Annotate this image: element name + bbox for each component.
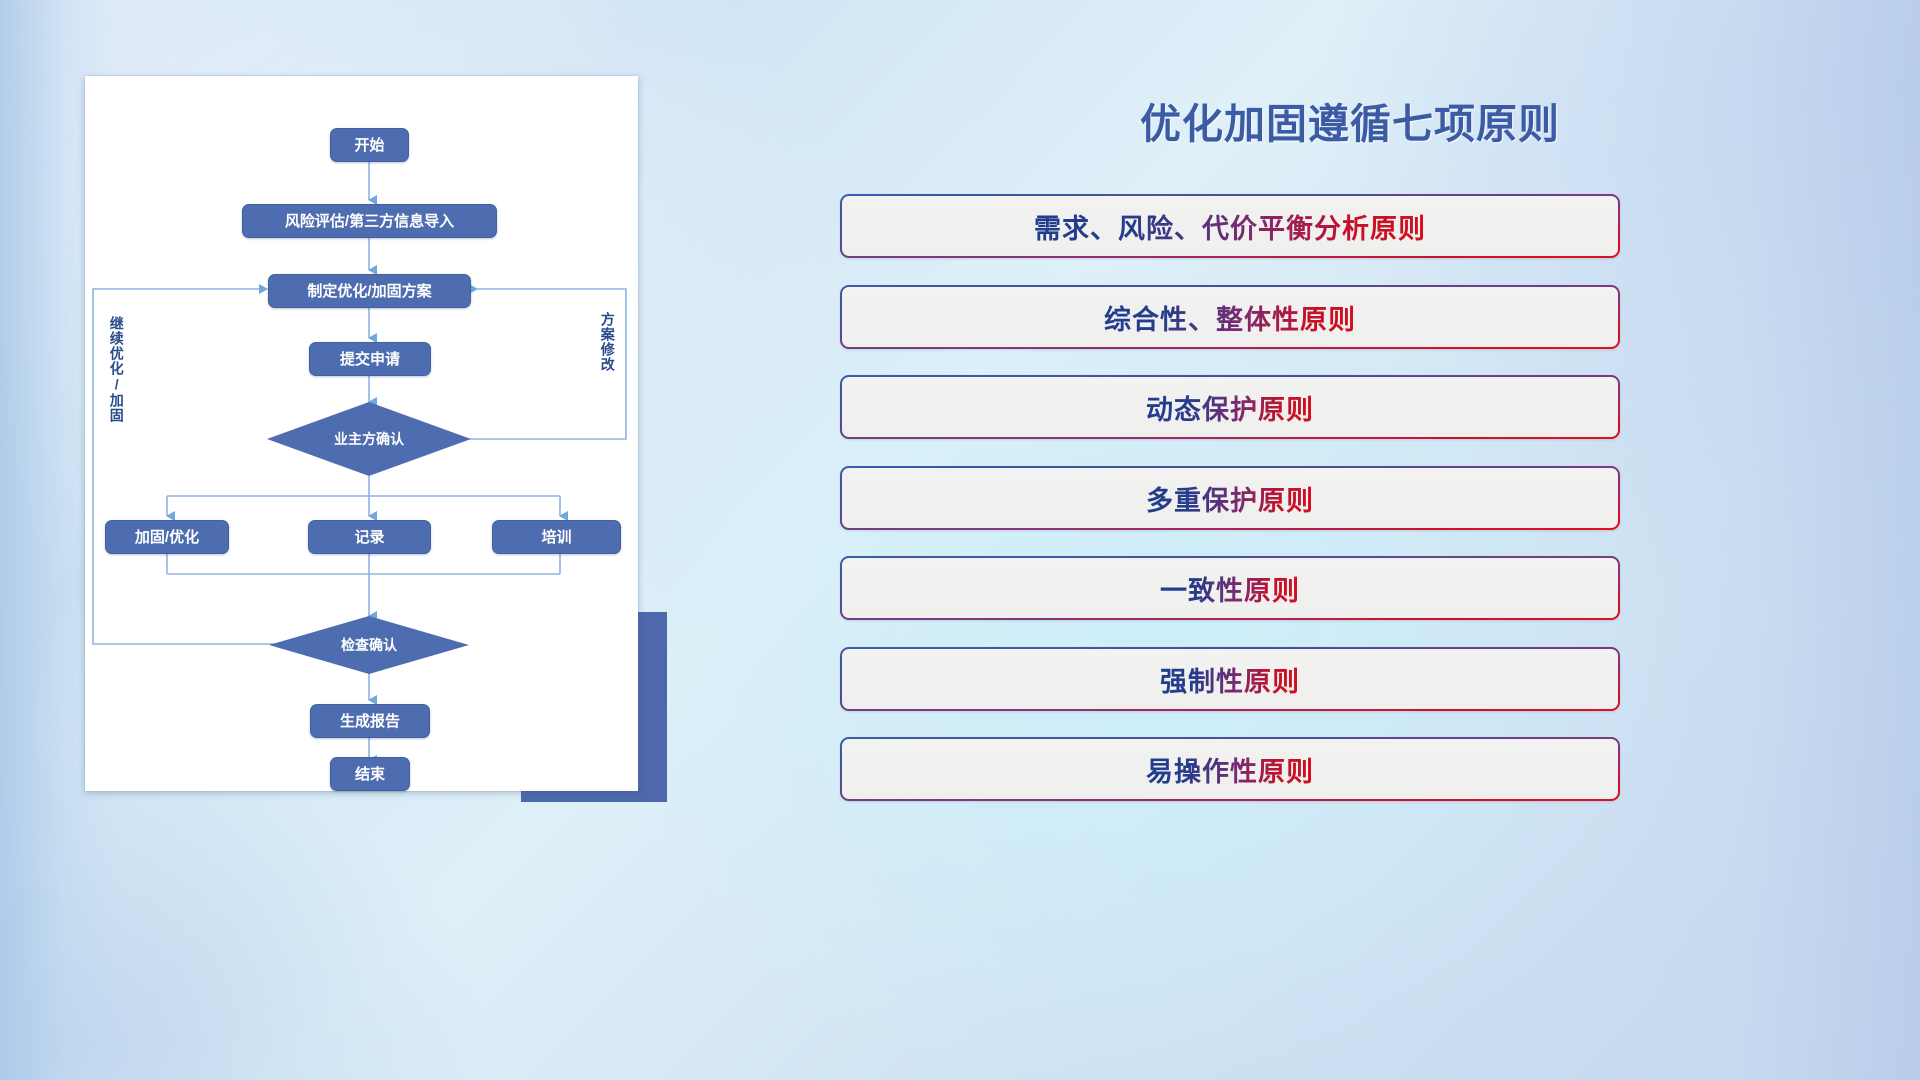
principle-item-7[interactable]: 易操作性原则 xyxy=(840,737,1620,801)
flowchart: 开始 风险评估/第三方信息导入 制定优化/加固方案 提交申请 业主方确认 加固/… xyxy=(85,76,638,791)
principle-item-5[interactable]: 一致性原则 xyxy=(840,556,1620,620)
flow-node-label: 制定优化/加固方案 xyxy=(307,284,431,299)
flow-node-record[interactable]: 记录 xyxy=(308,520,431,554)
principle-item-6[interactable]: 强制性原则 xyxy=(840,647,1620,711)
flow-node-label: 提交申请 xyxy=(340,352,400,367)
principle-label: 强制性原则 xyxy=(1160,660,1300,699)
flowchart-card: 开始 风险评估/第三方信息导入 制定优化/加固方案 提交申请 业主方确认 加固/… xyxy=(85,76,638,791)
flow-node-make-plan[interactable]: 制定优化/加固方案 xyxy=(268,274,471,308)
flow-decision-check-confirm[interactable]: 检查确认 xyxy=(269,616,469,674)
flow-edge-label-plan-revision: 方案修改 xyxy=(600,312,615,372)
flow-node-label: 生成报告 xyxy=(340,714,400,729)
principle-label: 需求、风险、代价平衡分析原则 xyxy=(1034,207,1426,246)
flow-node-start[interactable]: 开始 xyxy=(330,128,409,162)
principle-label: 动态保护原则 xyxy=(1146,388,1314,427)
flow-node-end[interactable]: 结束 xyxy=(330,757,410,791)
flow-node-label: 开始 xyxy=(354,138,384,153)
slide-background: 开始 风险评估/第三方信息导入 制定优化/加固方案 提交申请 业主方确认 加固/… xyxy=(0,0,1920,1080)
principle-item-1[interactable]: 需求、风险、代价平衡分析原则 xyxy=(840,194,1620,258)
principle-label: 一致性原则 xyxy=(1160,569,1300,608)
principle-item-4[interactable]: 多重保护原则 xyxy=(840,466,1620,530)
flow-node-label: 培训 xyxy=(541,530,571,545)
principle-item-2[interactable]: 综合性、整体性原则 xyxy=(840,285,1620,349)
flow-decision-owner-confirm[interactable]: 业主方确认 xyxy=(267,402,471,476)
principle-label: 综合性、整体性原则 xyxy=(1104,298,1356,337)
flow-node-generate-report[interactable]: 生成报告 xyxy=(310,704,430,738)
flow-node-training[interactable]: 培训 xyxy=(492,520,621,554)
flow-node-label: 加固/优化 xyxy=(135,530,199,545)
principle-label: 易操作性原则 xyxy=(1146,750,1314,789)
flow-node-label: 记录 xyxy=(354,530,384,545)
flow-node-reinforce-optimize[interactable]: 加固/优化 xyxy=(105,520,229,554)
flow-node-label: 风险评估/第三方信息导入 xyxy=(285,214,454,229)
principles-panel: 优化加固遵循七项原则 需求、风险、代价平衡分析原则 综合性、整体性原则 动态保护… xyxy=(820,70,1880,1000)
principle-item-3[interactable]: 动态保护原则 xyxy=(840,375,1620,439)
flow-node-label: 结束 xyxy=(355,767,385,782)
flow-node-submit-application[interactable]: 提交申请 xyxy=(309,342,431,376)
principle-label: 多重保护原则 xyxy=(1146,479,1314,518)
flow-edge-label-continue-optimize: 继续优化/加固 xyxy=(109,316,124,423)
panel-title: 优化加固遵循七项原则 xyxy=(820,90,1880,150)
flow-node-risk-assessment[interactable]: 风险评估/第三方信息导入 xyxy=(242,204,497,238)
